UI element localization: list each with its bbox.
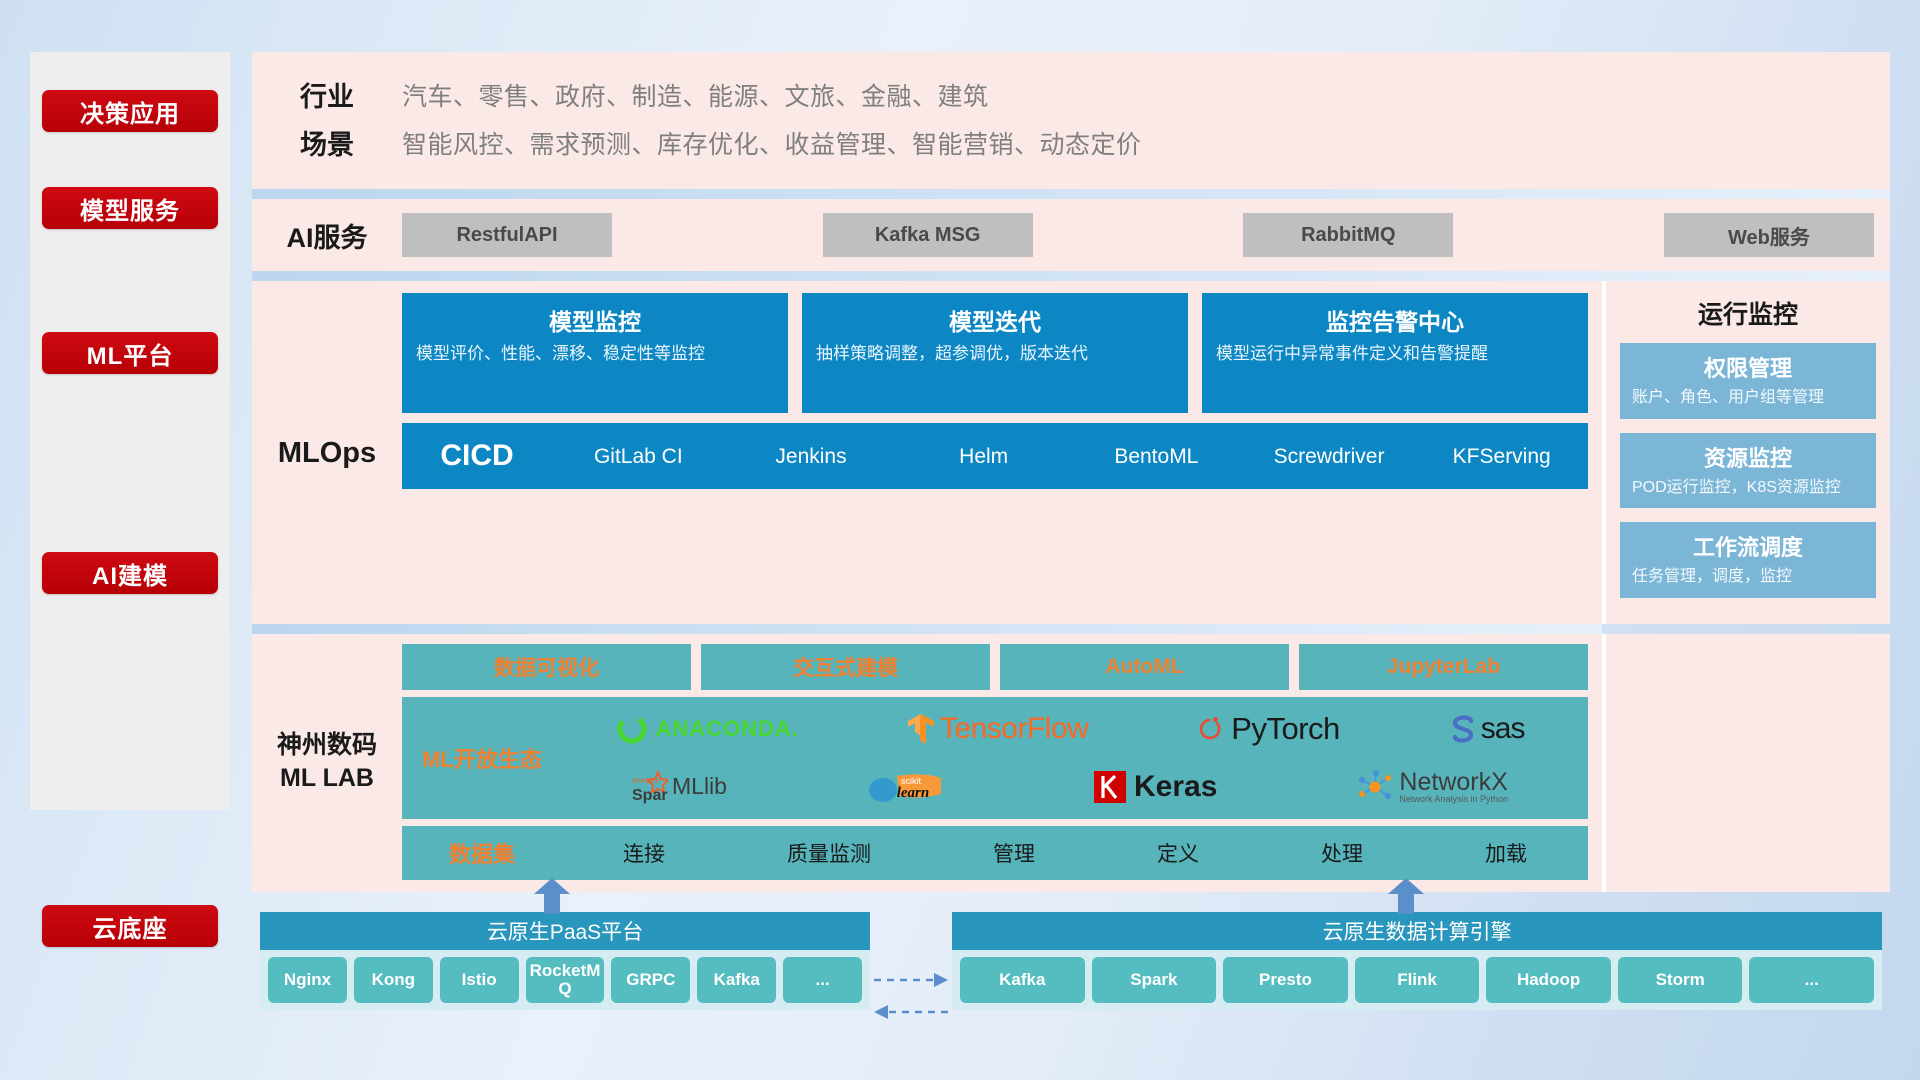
ml-lab-body: 数据可视化 交互式建模 AutoML JupyterLab ML开放生态	[402, 644, 1602, 880]
paas-chip-list: Nginx Kong Istio RocketMQ GRPC Kafka ...	[260, 950, 870, 1010]
mlops-section: MLOps 模型监控 模型评价、性能、漂移、稳定性等监控 模型迭代 抽样策略调整…	[252, 281, 1602, 624]
sas-icon	[1447, 712, 1479, 746]
up-arrow-icon	[1384, 878, 1428, 914]
ml-ecosystem-logos: ANACONDA. TensorFlow	[562, 702, 1588, 814]
monitor-card-resource[interactable]: 资源监控 POD运行监控，K8S资源监控	[1620, 433, 1876, 509]
monitor-card-permission[interactable]: 权限管理 账户、角色、用户组等管理	[1620, 343, 1876, 419]
mlops-card-list: 模型监控 模型评价、性能、漂移、稳定性等监控 模型迭代 抽样策略调整，超参调优，…	[402, 293, 1588, 413]
bidirectional-link-arrows	[872, 968, 950, 1024]
pytorch-icon	[1195, 712, 1225, 746]
ml-lab-title-line1: 神州数码	[277, 731, 377, 759]
mlops-body: 模型监控 模型评价、性能、漂移、稳定性等监控 模型迭代 抽样策略调整，超参调优，…	[402, 293, 1602, 614]
paas-chip-more[interactable]: ...	[783, 957, 862, 1003]
rail-item-ai-modeling[interactable]: AI建模	[42, 552, 218, 594]
service-box-label: Kafka MSG	[875, 224, 981, 247]
scikit-learn-logo: scikit learn	[867, 770, 953, 804]
industry-list: 汽车、零售、政府、制造、能源、文旅、金融、建筑	[402, 77, 989, 113]
cicd-title: CICD	[402, 439, 552, 473]
svg-text:learn: learn	[897, 785, 930, 801]
paas-chip-kong[interactable]: Kong	[354, 957, 433, 1003]
engine-chip-flink[interactable]: Flink	[1355, 957, 1480, 1003]
anaconda-wordmark: ANACONDA.	[655, 716, 798, 742]
band-divider	[252, 189, 1890, 199]
ai-service-box-list: RestfulAPI Kafka MSG RabbitMQ Web服务	[402, 213, 1890, 257]
left-rail: 决策应用 模型服务 ML平台 AI建模	[30, 52, 230, 810]
card-title: 模型迭代	[816, 303, 1174, 337]
card-title: 权限管理	[1632, 351, 1864, 383]
engine-chip-kafka[interactable]: Kafka	[960, 957, 1085, 1003]
main-architecture-column: 行业 汽车、零售、政府、制造、能源、文旅、金融、建筑 场景 智能风控、需求预测、…	[252, 52, 1890, 892]
run-monitoring-panel: 运行监控 权限管理 账户、角色、用户组等管理 资源监控 POD运行监控，K8S资…	[1602, 281, 1890, 624]
ml-lab-title-line2: ML LAB	[280, 764, 374, 792]
networkx-icon	[1357, 770, 1395, 804]
card-title: 资源监控	[1632, 441, 1864, 473]
card-desc: 模型评价、性能、漂移、稳定性等监控	[416, 343, 774, 366]
networkx-wordmark: NetworkX	[1399, 770, 1508, 795]
dataset-item-quality[interactable]: 质量监测	[787, 838, 871, 868]
industry-label: 行业	[252, 75, 402, 114]
service-box-label: RestfulAPI	[456, 224, 557, 247]
mlops-title: MLOps	[252, 293, 402, 614]
monitor-card-workflow[interactable]: 工作流调度 任务管理，调度，监控	[1620, 522, 1876, 598]
keras-logo: Keras	[1093, 770, 1217, 804]
service-box-kafka-msg[interactable]: Kafka MSG	[823, 213, 1033, 257]
mlops-card-model-iteration[interactable]: 模型迭代 抽样策略调整，超参调优，版本迭代	[802, 293, 1188, 413]
networkx-logo: NetworkX Network Analysis in Python	[1357, 770, 1508, 804]
paas-chip-kafka[interactable]: Kafka	[697, 957, 776, 1003]
engine-chip-presto[interactable]: Presto	[1223, 957, 1348, 1003]
engine-chip-more[interactable]: ...	[1749, 957, 1874, 1003]
service-box-rabbitmq[interactable]: RabbitMQ	[1243, 213, 1453, 257]
cicd-item-gitlab-ci[interactable]: GitLab CI	[552, 446, 725, 467]
dataset-item-list: 连接 质量监测 管理 定义 处理 加载	[562, 838, 1588, 868]
engine-header: 云原生数据计算引擎	[952, 912, 1882, 950]
card-title: 工作流调度	[1632, 530, 1864, 562]
service-box-restfulapi[interactable]: RestfulAPI	[402, 213, 612, 257]
rail-label: AI建模	[92, 556, 168, 591]
rail-label: ML平台	[87, 336, 174, 371]
rail-label: 云底座	[93, 909, 168, 944]
dataset-row: 数据集 连接 质量监测 管理 定义 处理 加载	[402, 826, 1588, 880]
sas-logo: sas	[1447, 712, 1525, 746]
cloud-base-section: 云原生PaaS平台 Nginx Kong Istio RocketMQ GRPC…	[252, 880, 1890, 1060]
pytorch-wordmark: PyTorch	[1231, 711, 1339, 747]
ml-lab-right-filler	[1602, 634, 1890, 892]
card-desc: POD运行监控，K8S资源监控	[1632, 477, 1864, 499]
paas-chip-grpc[interactable]: GRPC	[611, 957, 690, 1003]
cicd-item-screwdriver[interactable]: Screwdriver	[1243, 446, 1416, 467]
cicd-item-jenkins[interactable]: Jenkins	[725, 446, 898, 467]
card-desc: 抽样策略调整，超参调优，版本迭代	[816, 343, 1174, 366]
paas-chip-nginx[interactable]: Nginx	[268, 957, 347, 1003]
rail-item-cloud-base[interactable]: 云底座	[42, 905, 218, 947]
paas-header: 云原生PaaS平台	[260, 912, 870, 950]
ai-service-band: AI服务 RestfulAPI Kafka MSG RabbitMQ Web服务	[252, 199, 1890, 271]
paas-chip-rocketmq[interactable]: RocketMQ	[526, 957, 605, 1003]
pytorch-logo: PyTorch	[1195, 711, 1339, 747]
mlops-band: MLOps 模型监控 模型评价、性能、漂移、稳定性等监控 模型迭代 抽样策略调整…	[252, 281, 1890, 624]
keras-wordmark: Keras	[1134, 770, 1217, 804]
engine-chip-list: Kafka Spark Presto Flink Hadoop Storm ..…	[952, 950, 1882, 1010]
scenario-label: 场景	[252, 123, 402, 162]
scenario-list: 智能风控、需求预测、库存优化、收益管理、智能营销、动态定价	[402, 125, 1142, 161]
dataset-item-management[interactable]: 管理	[993, 838, 1035, 868]
mlops-card-alert-center[interactable]: 监控告警中心 模型运行中异常事件定义和告警提醒	[1202, 293, 1588, 413]
dataset-label: 数据集	[402, 837, 562, 869]
ml-ecosystem-row: ML开放生态 ANACONDA.	[402, 697, 1588, 819]
keras-icon	[1093, 770, 1127, 804]
card-title: 模型监控	[416, 303, 774, 337]
rail-label: 模型服务	[80, 191, 180, 226]
spark-mllib-logo: APACHE Spark MLlib	[632, 770, 727, 804]
tensorflow-wordmark: TensorFlow	[940, 712, 1088, 746]
mllib-wordmark: MLlib	[672, 773, 727, 800]
service-box-label: RabbitMQ	[1301, 224, 1395, 247]
band-divider	[252, 271, 1890, 281]
apache-spark-icon: APACHE Spark	[632, 770, 668, 804]
dataset-item-processing[interactable]: 处理	[1321, 838, 1363, 868]
cicd-item-list: GitLab CI Jenkins Helm BentoML Screwdriv…	[552, 446, 1588, 467]
engine-chip-storm[interactable]: Storm	[1618, 957, 1743, 1003]
dataset-item-definition[interactable]: 定义	[1157, 838, 1199, 868]
service-box-label: Web服务	[1728, 221, 1810, 250]
card-desc: 账户、角色、用户组等管理	[1632, 387, 1864, 409]
logo-line-2: APACHE Spark MLlib scikit	[562, 760, 1578, 814]
cicd-bar: CICD GitLab CI Jenkins Helm BentoML Scre…	[402, 423, 1588, 489]
paas-chip-istio[interactable]: Istio	[440, 957, 519, 1003]
engine-chip-hadoop[interactable]: Hadoop	[1486, 957, 1611, 1003]
dataset-item-connect[interactable]: 连接	[623, 838, 665, 868]
rail-item-model-service[interactable]: 模型服务	[42, 187, 218, 229]
industry-scenario-band: 行业 汽车、零售、政府、制造、能源、文旅、金融、建筑 场景 智能风控、需求预测、…	[252, 52, 1890, 189]
scikit-learn-icon: scikit learn	[867, 770, 953, 804]
cicd-item-helm[interactable]: Helm	[897, 446, 1070, 467]
anaconda-logo: ANACONDA.	[615, 712, 798, 746]
logo-line-1: ANACONDA. TensorFlow	[562, 702, 1578, 756]
engine-chip-spark[interactable]: Spark	[1092, 957, 1217, 1003]
run-monitoring-title: 运行监控	[1620, 295, 1876, 331]
rail-label: 决策应用	[80, 94, 180, 129]
rail-item-decision-app[interactable]: 决策应用	[42, 90, 218, 132]
tool-chip-data-visualization[interactable]: 数据可视化	[402, 644, 691, 690]
card-desc: 模型运行中异常事件定义和告警提醒	[1216, 343, 1574, 366]
svg-text:APACHE: APACHE	[632, 778, 661, 785]
cicd-item-kfserving[interactable]: KFServing	[1415, 446, 1588, 467]
industry-row: 行业 汽车、零售、政府、制造、能源、文旅、金融、建筑	[252, 75, 1890, 114]
scenario-row: 场景 智能风控、需求预测、库存优化、收益管理、智能营销、动态定价	[252, 123, 1890, 162]
tool-chip-jupyterlab[interactable]: JupyterLab	[1299, 644, 1588, 690]
mlops-card-model-monitoring[interactable]: 模型监控 模型评价、性能、漂移、稳定性等监控	[402, 293, 788, 413]
cloud-native-data-engine-group: 云原生数据计算引擎 Kafka Spark Presto Flink Hadoo…	[952, 912, 1882, 1010]
cicd-item-bentoml[interactable]: BentoML	[1070, 446, 1243, 467]
up-arrow-icon	[530, 878, 574, 914]
ml-lab-title: 神州数码 ML LAB	[252, 644, 402, 880]
sas-wordmark: sas	[1481, 712, 1525, 746]
ml-lab-section: 神州数码 ML LAB 数据可视化 交互式建模 AutoML JupyterLa…	[252, 634, 1602, 892]
tensorflow-logo: TensorFlow	[906, 712, 1088, 746]
anaconda-icon	[615, 712, 649, 746]
ml-ecosystem-label: ML开放生态	[402, 742, 562, 774]
tool-chip-automl[interactable]: AutoML	[1000, 644, 1289, 690]
dataset-item-loading[interactable]: 加载	[1485, 838, 1527, 868]
svg-text:Spark: Spark	[632, 787, 668, 804]
tensorflow-icon	[906, 712, 936, 746]
card-title: 监控告警中心	[1216, 303, 1574, 337]
ml-lab-band: 神州数码 ML LAB 数据可视化 交互式建模 AutoML JupyterLa…	[252, 634, 1890, 892]
tool-chip-interactive-modeling[interactable]: 交互式建模	[701, 644, 990, 690]
card-desc: 任务管理，调度，监控	[1632, 566, 1864, 588]
band-divider	[252, 624, 1602, 634]
ml-lab-tool-chip-row: 数据可视化 交互式建模 AutoML JupyterLab	[402, 644, 1588, 690]
cloud-native-paas-group: 云原生PaaS平台 Nginx Kong Istio RocketMQ GRPC…	[260, 912, 870, 1010]
ai-service-title: AI服务	[252, 216, 402, 255]
networkx-tagline: Network Analysis in Python	[1399, 795, 1508, 804]
service-box-web-service[interactable]: Web服务	[1664, 213, 1874, 257]
rail-item-ml-platform[interactable]: ML平台	[42, 332, 218, 374]
